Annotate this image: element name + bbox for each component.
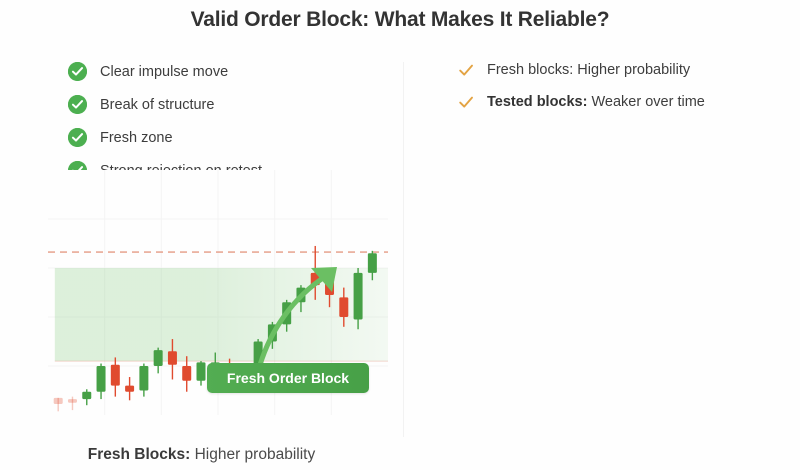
list-item: Fresh zone [68,128,262,147]
right-panel: Fresh blocks: Higher probability Tested … [403,0,800,470]
list-item-label: Fresh zone [100,130,173,146]
list-item-label: Break of structure [100,97,214,113]
list-item: Break of structure [68,95,262,114]
check-tick-icon [458,94,474,110]
left-caption-rest: Higher probability [190,446,315,463]
check-circle-icon [68,62,87,81]
check-circle-icon [68,95,87,114]
list-item-label: Fresh blocks: Higher probability [487,62,690,78]
fresh-order-block-badge: Fresh Order Block [207,363,369,393]
list-item: Clear impulse move [68,62,262,81]
list-item-label: Tested blocks: Weaker over time [487,94,705,110]
infographic-page: Valid Order Block: What Makes It Reliabl… [0,0,800,470]
list-item: Tested blocks: Weaker over time [458,94,705,110]
left-caption-strong: Fresh Blocks: [88,446,191,463]
check-tick-icon [458,62,474,78]
list-item-rest: Higher probability [573,62,690,78]
check-circle-icon [68,128,87,147]
list-item-rest: Weaker over time [587,94,704,110]
list-item-lead: Fresh blocks: [487,62,573,78]
list-item: Fresh blocks: Higher probability [458,62,705,78]
left-panel: Clear impulse move Break of structure Fr… [0,0,403,470]
list-item-label: Clear impulse move [100,64,228,80]
list-item-lead: Tested blocks: [487,94,587,110]
left-caption: Fresh Blocks: Higher probability [0,446,403,464]
right-checklist: Fresh blocks: Higher probability Tested … [458,62,705,126]
